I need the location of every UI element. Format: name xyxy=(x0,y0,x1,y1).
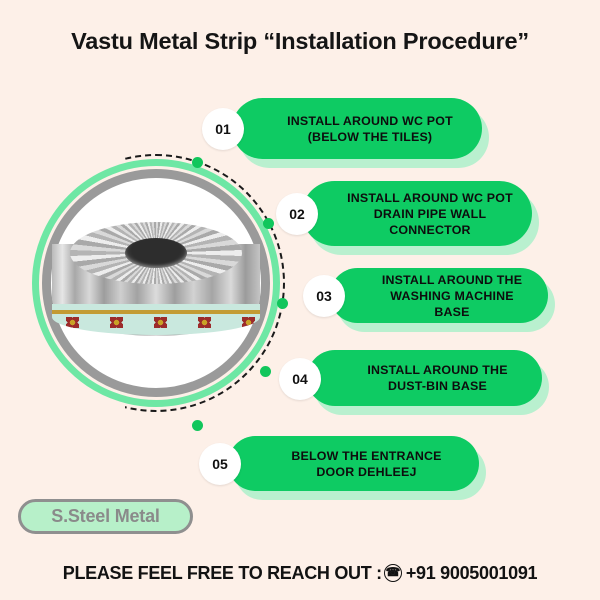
infographic-poster: Vastu Metal Strip “Installation Procedur… xyxy=(0,0,600,600)
step-number-badge: 02 xyxy=(276,193,318,235)
contact-footer: PLEASE FEEL FREE TO REACH OUT :☎+91 9005… xyxy=(0,562,600,584)
step-item-02[interactable]: INSTALL AROUND WC POT DRAIN PIPE WALL CO… xyxy=(302,181,532,246)
step-pill[interactable]: INSTALL AROUND WC POT DRAIN PIPE WALL CO… xyxy=(302,181,532,246)
product-image-cluster xyxy=(18,148,283,448)
page-title: Vastu Metal Strip “Installation Procedur… xyxy=(0,28,600,55)
step-label: BELOW THE ENTRANCE DOOR DEHLEEJ xyxy=(249,448,457,480)
step-item-01[interactable]: INSTALL AROUND WC POT (BELOW THE TILES) … xyxy=(232,98,482,159)
step-item-05[interactable]: BELOW THE ENTRANCE DOOR DEHLEEJ 05 xyxy=(228,436,479,491)
arc-dot-1 xyxy=(192,157,203,168)
step-pill[interactable]: BELOW THE ENTRANCE DOOR DEHLEEJ xyxy=(228,436,479,491)
coil-gold-stripe xyxy=(52,310,260,314)
step-label: INSTALL AROUND THE DUST-BIN BASE xyxy=(325,362,523,394)
step-number-badge: 05 xyxy=(199,443,241,485)
coil-center-hole xyxy=(125,238,187,268)
brand-emblem xyxy=(198,317,211,328)
step-number-badge: 03 xyxy=(303,275,345,317)
coil-label-band xyxy=(52,304,260,335)
arc-dot-3 xyxy=(277,298,288,309)
step-item-04[interactable]: INSTALL AROUND THE DUST-BIN BASE 04 xyxy=(307,350,542,406)
brand-logo-text: S.Steel Metal xyxy=(51,506,159,527)
step-number-badge: 04 xyxy=(279,358,321,400)
brand-emblem xyxy=(242,317,255,328)
step-item-03[interactable]: INSTALL AROUND THE WASHING MACHINE BASE … xyxy=(330,268,548,323)
step-pill[interactable]: INSTALL AROUND THE WASHING MACHINE BASE xyxy=(330,268,548,323)
brand-logo-badge: S.Steel Metal xyxy=(18,499,193,534)
step-pill[interactable]: INSTALL AROUND THE DUST-BIN BASE xyxy=(307,350,542,406)
step-label: INSTALL AROUND WC POT (BELOW THE TILES) xyxy=(245,113,469,145)
step-number-badge: 01 xyxy=(202,108,244,150)
arc-dot-4 xyxy=(260,366,271,377)
phone-icon: ☎ xyxy=(384,564,402,582)
contact-message: PLEASE FEEL FREE TO REACH OUT : xyxy=(63,563,382,583)
brand-emblem xyxy=(66,317,79,328)
step-label: INSTALL AROUND THE WASHING MACHINE BASE xyxy=(330,272,548,320)
brand-emblem xyxy=(154,317,167,328)
step-pill[interactable]: INSTALL AROUND WC POT (BELOW THE TILES) xyxy=(232,98,482,159)
arc-dot-5 xyxy=(192,420,203,431)
arc-dot-2 xyxy=(263,218,274,229)
contact-phone-number[interactable]: +91 9005001091 xyxy=(406,563,537,583)
steel-strip-coil xyxy=(52,222,260,354)
brand-emblem xyxy=(110,317,123,328)
step-label: INSTALL AROUND WC POT DRAIN PIPE WALL CO… xyxy=(305,190,529,238)
